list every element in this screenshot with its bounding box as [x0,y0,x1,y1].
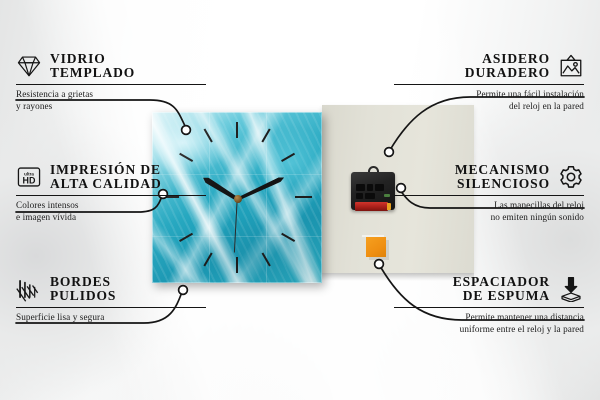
clock-mechanism [351,166,395,210]
feature-titles: VIDRIO TEMPLADO [50,52,135,80]
feature-titles: ASIDERO DURADERO [465,52,550,80]
feature-description: Superficie lisa y segura [16,312,206,324]
feature-header: MECANISMO SILENCIOSO [394,163,584,191]
feature-title-line-2: TEMPLADO [50,66,135,80]
foam-spacer-arrow-icon [558,276,584,302]
feature-espaciador-de-espuma: ESPACIADOR DE ESPUMA Permite mantener un… [394,275,584,336]
gear-icon [558,164,584,190]
feature-description: Permite mantener una distancia uniforme … [394,312,584,336]
feature-rule [16,84,206,86]
battery [355,202,388,211]
clock-tick [236,257,238,273]
feature-title-line-2: DURADERO [465,66,550,80]
feature-rule [394,195,584,197]
feature-desc-line-2: no emiten ningún sonido [394,212,584,224]
mechanism-detail [365,193,375,199]
feature-header: BORDES PULIDOS [16,275,206,303]
feature-title-line-2: DE ESPUMA [463,289,550,303]
feature-title-line-1: MECANISMO [455,163,550,177]
mechanism-detail [356,184,365,191]
clock-tick [295,196,312,198]
feature-desc-line-2: y rayones [16,101,206,113]
feature-header: ASIDERO DURADERO [394,52,584,80]
feature-rule [394,84,584,86]
mechanism-body [351,172,395,210]
feature-title-line-2: ALTA CALIDAD [50,177,162,191]
mechanism-label [384,194,390,197]
feature-titles: BORDES PULIDOS [50,275,116,303]
feature-rule [16,307,206,309]
clock-center-cap [234,195,242,203]
feature-header: ESPACIADOR DE ESPUMA [394,275,584,303]
feature-desc-line-1: Permite mantener una distancia [394,312,584,324]
wall-hanger-frame-icon [558,53,584,79]
feature-desc-line-1: Colores intensos [16,200,206,212]
feature-title-line-1: BORDES [50,275,111,289]
feature-desc-line-1: Superficie lisa y segura [16,312,206,324]
feature-rule [394,307,584,309]
feature-asidero-duradero: ASIDERO DURADERO Permite una fácil insta… [394,52,584,113]
feature-rule [16,195,206,197]
feature-desc-line-1: Permite una fácil instalación [394,89,584,101]
mechanism-detail [356,193,363,199]
battery-terminal [387,203,391,210]
foam-spacer [366,237,386,257]
ultra-hd-icon: ultra HD [16,164,42,190]
feature-desc-line-2: uniforme entre el reloj y la pared [394,324,584,336]
feature-desc-line-2: del reloj en la pared [394,101,584,113]
feature-desc-line-1: Resistencia a grietas [16,89,206,101]
mechanism-detail [375,184,384,191]
feature-header: VIDRIO TEMPLADO [16,52,206,80]
feature-titles: MECANISMO SILENCIOSO [455,163,550,191]
feature-description: Resistencia a grietas y rayones [16,89,206,113]
feature-title-line-2: SILENCIOSO [457,177,550,191]
feature-impresion-alta-calidad: ultra HD IMPRESIÓN DE ALTA CALIDAD Color… [16,163,206,224]
mechanism-detail [367,184,373,191]
feature-titles: IMPRESIÓN DE ALTA CALIDAD [50,163,162,191]
feature-header: ultra HD IMPRESIÓN DE ALTA CALIDAD [16,163,206,191]
ultra-hd-icon-main-text: HD [23,175,36,185]
feature-title-line-2: PULIDOS [50,289,116,303]
feature-mecanismo-silencioso: MECANISMO SILENCIOSO Las manecillas del … [394,163,584,224]
feature-description: Permite una fácil instalación del reloj … [394,89,584,113]
polished-edges-icon [16,276,42,302]
feature-description: Las manecillas del reloj no emiten ningú… [394,200,584,224]
feature-titles: ESPACIADOR DE ESPUMA [453,275,550,303]
feature-title-line-1: IMPRESIÓN DE [50,163,161,177]
feature-description: Colores intensos e imagen vívida [16,200,206,224]
diamond-icon [16,53,42,79]
feature-title-line-1: VIDRIO [50,52,106,66]
clock-tick [236,122,238,138]
feature-title-line-1: ESPACIADOR [453,275,550,289]
feature-bordes-pulidos: BORDES PULIDOS Superficie lisa y segura [16,275,206,324]
feature-vidrio-templado: VIDRIO TEMPLADO Resistencia a grietas y … [16,52,206,113]
feature-title-line-1: ASIDERO [482,52,550,66]
feature-desc-line-2: e imagen vívida [16,212,206,224]
feature-desc-line-1: Las manecillas del reloj [394,200,584,212]
